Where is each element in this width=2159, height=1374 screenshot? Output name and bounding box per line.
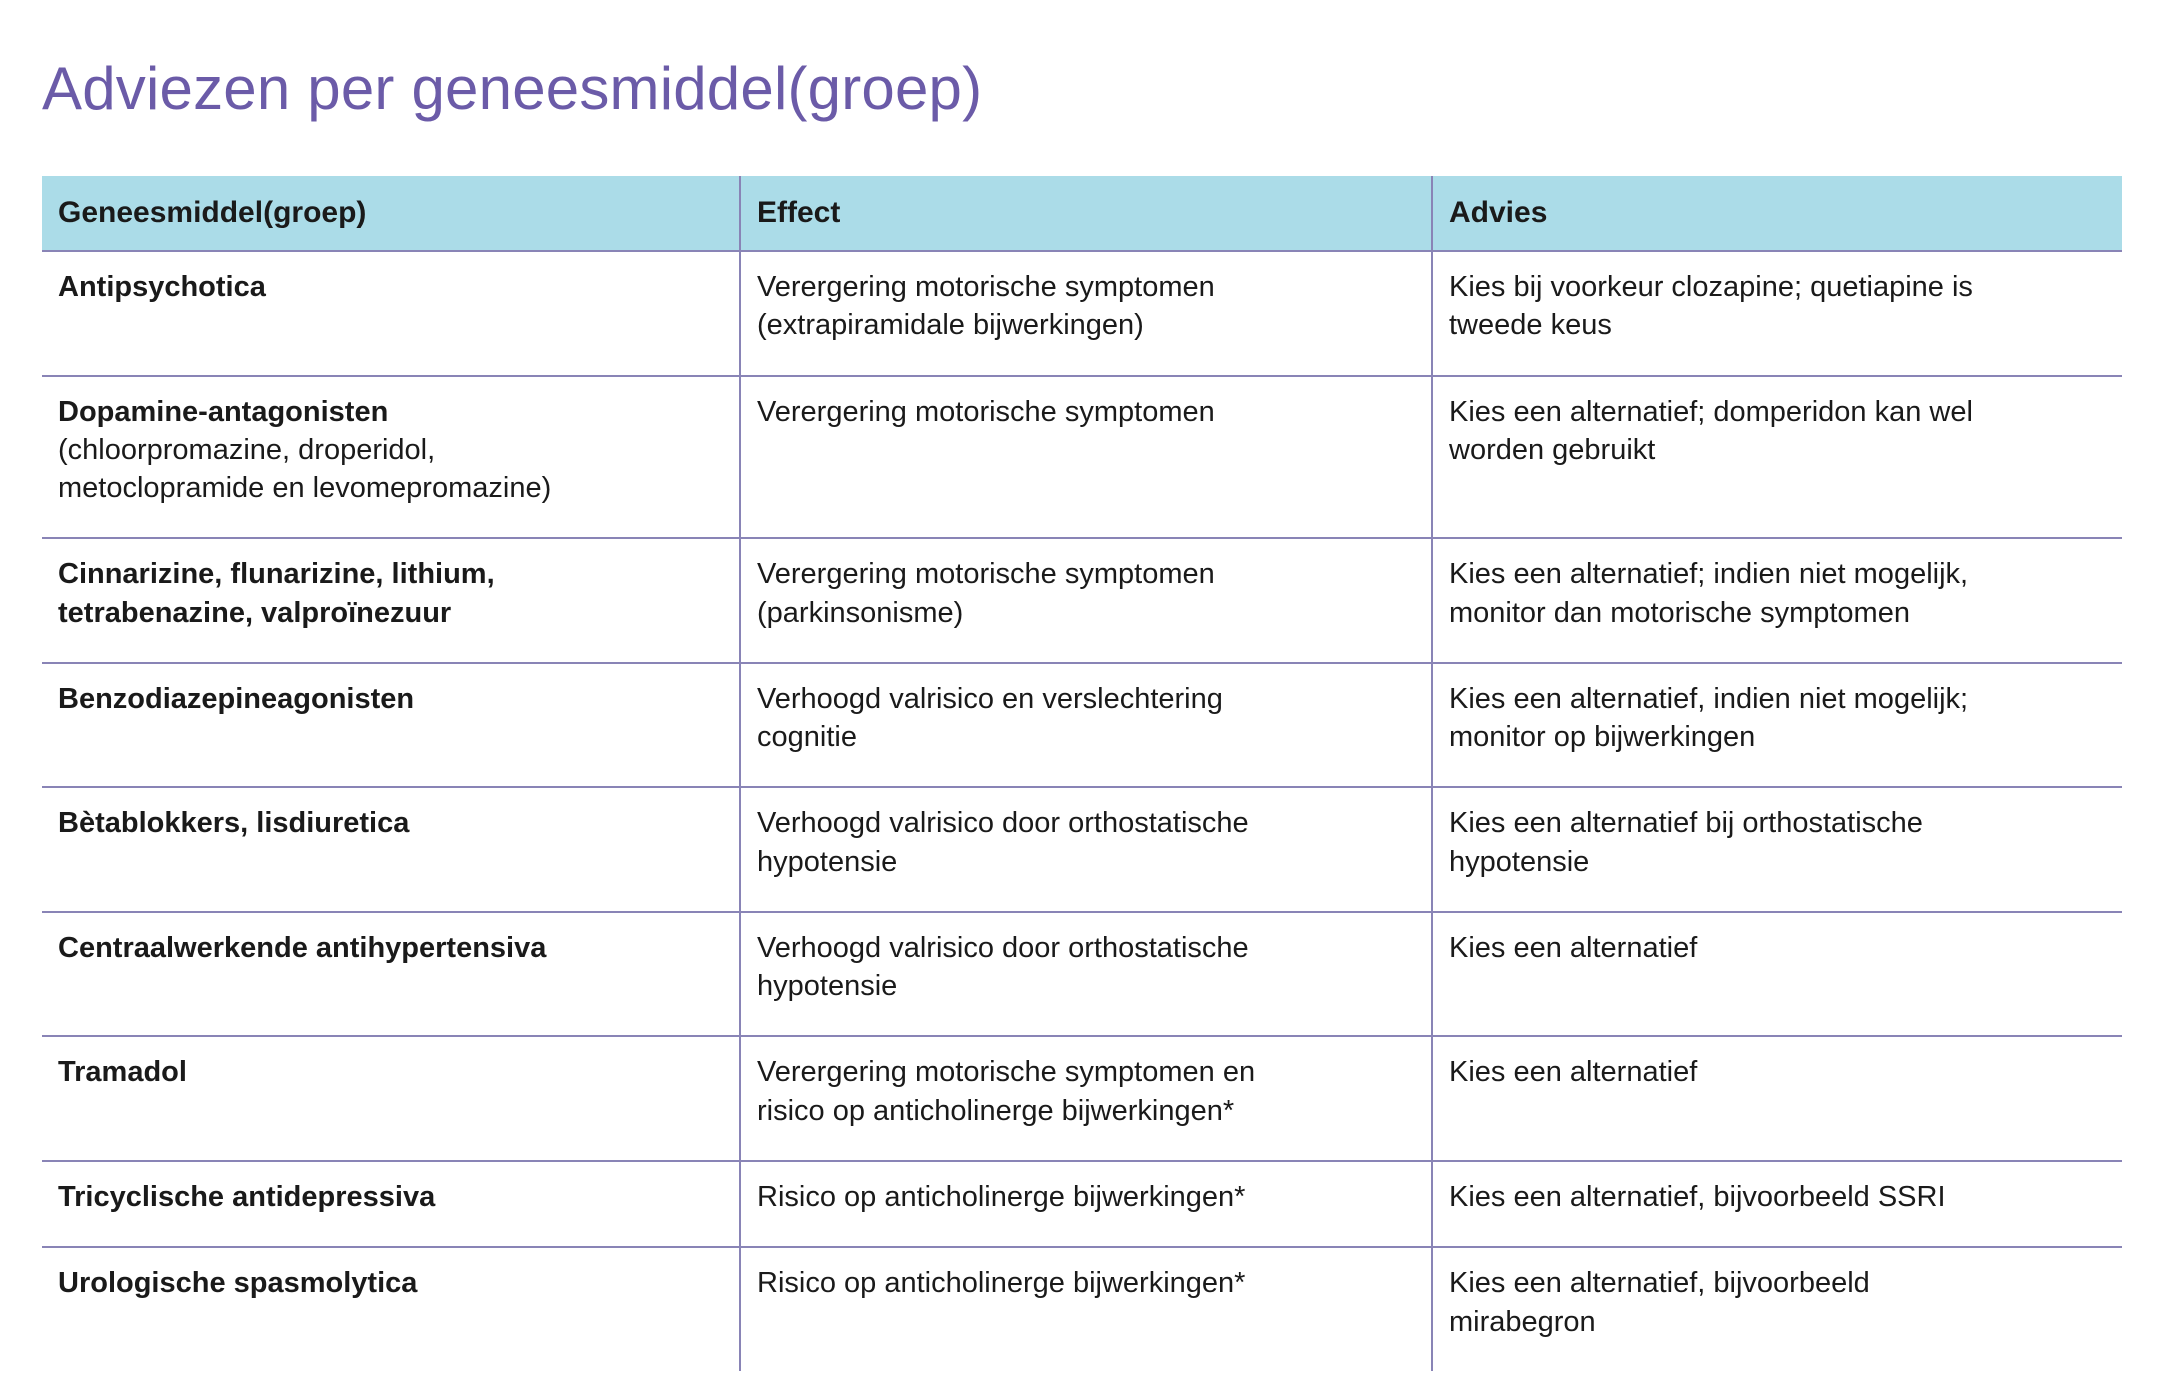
- advies-text: Kies bij voorkeur clozapine; quetiapine …: [1449, 268, 2098, 345]
- effect-text: Risico op anticholinerge bijwerkingen*: [757, 1178, 1407, 1216]
- table-row: Tricyclische antidepressiva Risico op an…: [42, 1161, 2122, 1247]
- table-header-row: Geneesmiddel(groep) Effect Advies: [42, 176, 2122, 251]
- cell-geneesmiddel: Dopamine-antagonisten (chloorpromazine, …: [42, 376, 740, 539]
- cell-effect: Verergering motorische symptomen: [740, 376, 1432, 539]
- cell-geneesmiddel: Urologische spasmolytica: [42, 1247, 740, 1371]
- cell-advies: Kies bij voorkeur clozapine; quetiapine …: [1432, 251, 2122, 376]
- cell-geneesmiddel: Benzodiazepineagonisten: [42, 663, 740, 788]
- column-header-advies[interactable]: Advies: [1432, 176, 2122, 251]
- table-row: Bètablokkers, lisdiuretica Verhoogd valr…: [42, 787, 2122, 912]
- table-header: Geneesmiddel(groep) Effect Advies: [42, 176, 2122, 251]
- cell-advies: Kies een alternatief; indien niet mogeli…: [1432, 538, 2122, 663]
- cell-geneesmiddel: Tricyclische antidepressiva: [42, 1161, 740, 1247]
- cell-effect: Verergering motorische symptomen (parkin…: [740, 538, 1432, 663]
- effect-text: Verergering motorische symptomen (parkin…: [757, 555, 1407, 632]
- drug-name: Bètablokkers, lisdiuretica: [58, 804, 715, 842]
- drug-name: Dopamine-antagonisten: [58, 393, 715, 431]
- advice-table: Geneesmiddel(groep) Effect Advies Antips…: [42, 176, 2122, 1371]
- effect-text: Verhoogd valrisico door orthostatische h…: [757, 804, 1407, 881]
- table-row: Centraalwerkende antihypertensiva Verhoo…: [42, 912, 2122, 1037]
- page-title: Adviezen per geneesmiddel(groep): [42, 54, 982, 123]
- effect-text: Verergering motorische symptomen: [757, 393, 1407, 431]
- drug-name: Centraalwerkende antihypertensiva: [58, 929, 715, 967]
- effect-text: Verergering motorische symptomen en risi…: [757, 1053, 1407, 1130]
- table-row: Urologische spasmolytica Risico op antic…: [42, 1247, 2122, 1371]
- cell-effect: Verhoogd valrisico door orthostatische h…: [740, 912, 1432, 1037]
- effect-text: Risico op anticholinerge bijwerkingen*: [757, 1264, 1407, 1302]
- effect-text: Verhoogd valrisico en verslechtering cog…: [757, 680, 1407, 757]
- column-header-geneesmiddel[interactable]: Geneesmiddel(groep): [42, 176, 740, 251]
- drug-name: Urologische spasmolytica: [58, 1264, 715, 1302]
- drug-name: Cinnarizine, flunarizine, lithium, tetra…: [58, 555, 715, 632]
- page-root: Adviezen per geneesmiddel(groep) Geneesm…: [0, 0, 2159, 1374]
- advice-table-container: Geneesmiddel(groep) Effect Advies Antips…: [42, 176, 2122, 1371]
- cell-advies: Kies een alternatief, bijvoorbeeld SSRI: [1432, 1161, 2122, 1247]
- advies-text: Kies een alternatief: [1449, 1053, 2098, 1091]
- drug-name: Benzodiazepineagonisten: [58, 680, 715, 718]
- table-body: Antipsychotica Verergering motorische sy…: [42, 251, 2122, 1371]
- effect-text: Verergering motorische symptomen (extrap…: [757, 268, 1407, 345]
- table-row: Benzodiazepineagonisten Verhoogd valrisi…: [42, 663, 2122, 788]
- cell-advies: Kies een alternatief; domperidon kan wel…: [1432, 376, 2122, 539]
- cell-effect: Verhoogd valrisico door orthostatische h…: [740, 787, 1432, 912]
- cell-effect: Verergering motorische symptomen en risi…: [740, 1036, 1432, 1161]
- advies-text: Kies een alternatief: [1449, 929, 2098, 967]
- advies-text: Kies een alternatief; indien niet mogeli…: [1449, 555, 2098, 632]
- cell-advies: Kies een alternatief: [1432, 1036, 2122, 1161]
- cell-advies: Kies een alternatief, indien niet mogeli…: [1432, 663, 2122, 788]
- advies-text: Kies een alternatief bij orthostatische …: [1449, 804, 2098, 881]
- cell-advies: Kies een alternatief bij orthostatische …: [1432, 787, 2122, 912]
- table-row: Tramadol Verergering motorische symptome…: [42, 1036, 2122, 1161]
- table-row: Dopamine-antagonisten (chloorpromazine, …: [42, 376, 2122, 539]
- drug-name: Tramadol: [58, 1053, 715, 1091]
- advies-text: Kies een alternatief, bijvoorbeeld SSRI: [1449, 1178, 2098, 1216]
- drug-name: Tricyclische antidepressiva: [58, 1178, 715, 1216]
- cell-advies: Kies een alternatief, bijvoorbeeld mirab…: [1432, 1247, 2122, 1371]
- cell-geneesmiddel: Cinnarizine, flunarizine, lithium, tetra…: [42, 538, 740, 663]
- advies-text: Kies een alternatief, indien niet mogeli…: [1449, 680, 2098, 757]
- cell-geneesmiddel: Centraalwerkende antihypertensiva: [42, 912, 740, 1037]
- cell-geneesmiddel: Tramadol: [42, 1036, 740, 1161]
- table-row: Cinnarizine, flunarizine, lithium, tetra…: [42, 538, 2122, 663]
- drug-subtext: (chloorpromazine, droperidol, metoclopra…: [58, 431, 715, 508]
- table-row: Antipsychotica Verergering motorische sy…: [42, 251, 2122, 376]
- advies-text: Kies een alternatief; domperidon kan wel…: [1449, 393, 2098, 470]
- advies-text: Kies een alternatief, bijvoorbeeld mirab…: [1449, 1264, 2098, 1341]
- effect-text: Verhoogd valrisico door orthostatische h…: [757, 929, 1407, 1006]
- cell-geneesmiddel: Antipsychotica: [42, 251, 740, 376]
- cell-effect: Risico op anticholinerge bijwerkingen*: [740, 1247, 1432, 1371]
- cell-geneesmiddel: Bètablokkers, lisdiuretica: [42, 787, 740, 912]
- cell-effect: Risico op anticholinerge bijwerkingen*: [740, 1161, 1432, 1247]
- cell-effect: Verergering motorische symptomen (extrap…: [740, 251, 1432, 376]
- cell-effect: Verhoogd valrisico en verslechtering cog…: [740, 663, 1432, 788]
- column-header-effect[interactable]: Effect: [740, 176, 1432, 251]
- cell-advies: Kies een alternatief: [1432, 912, 2122, 1037]
- drug-name: Antipsychotica: [58, 268, 715, 306]
